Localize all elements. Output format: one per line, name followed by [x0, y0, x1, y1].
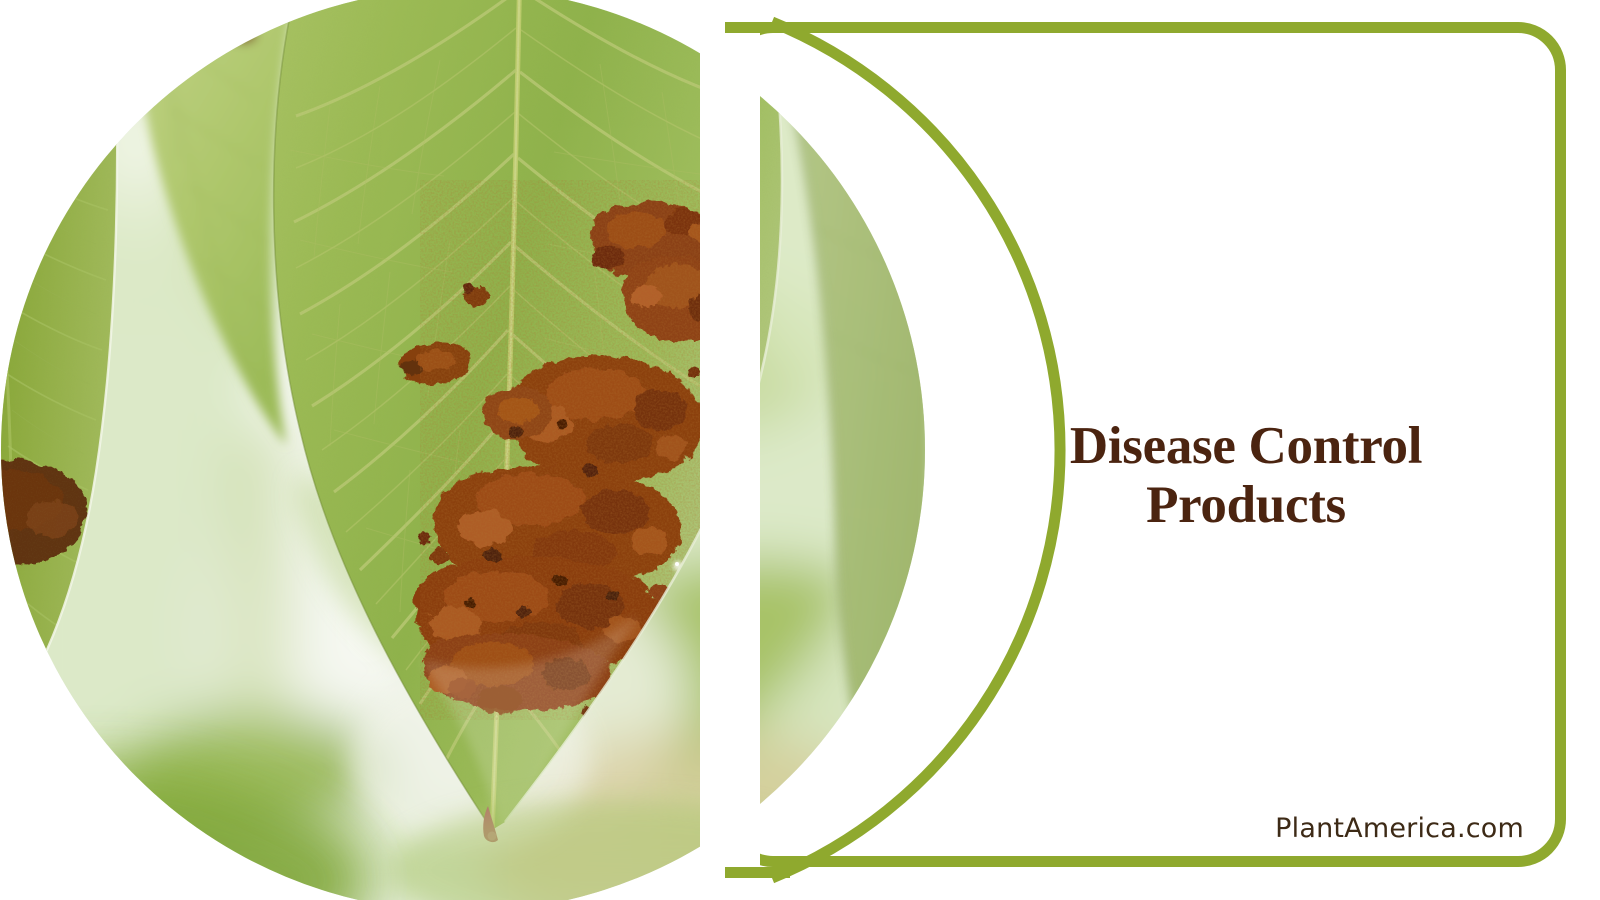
text-panel: Disease Control Products PlantAmerica.co… — [936, 33, 1556, 856]
page-title: Disease Control Products — [936, 417, 1556, 537]
site-url-label: PlantAmerica.com — [936, 813, 1524, 844]
leaf-photo-region — [0, 0, 930, 900]
leaf-photo — [0, 0, 930, 900]
promo-banner: Disease Control Products PlantAmerica.co… — [0, 0, 1600, 900]
